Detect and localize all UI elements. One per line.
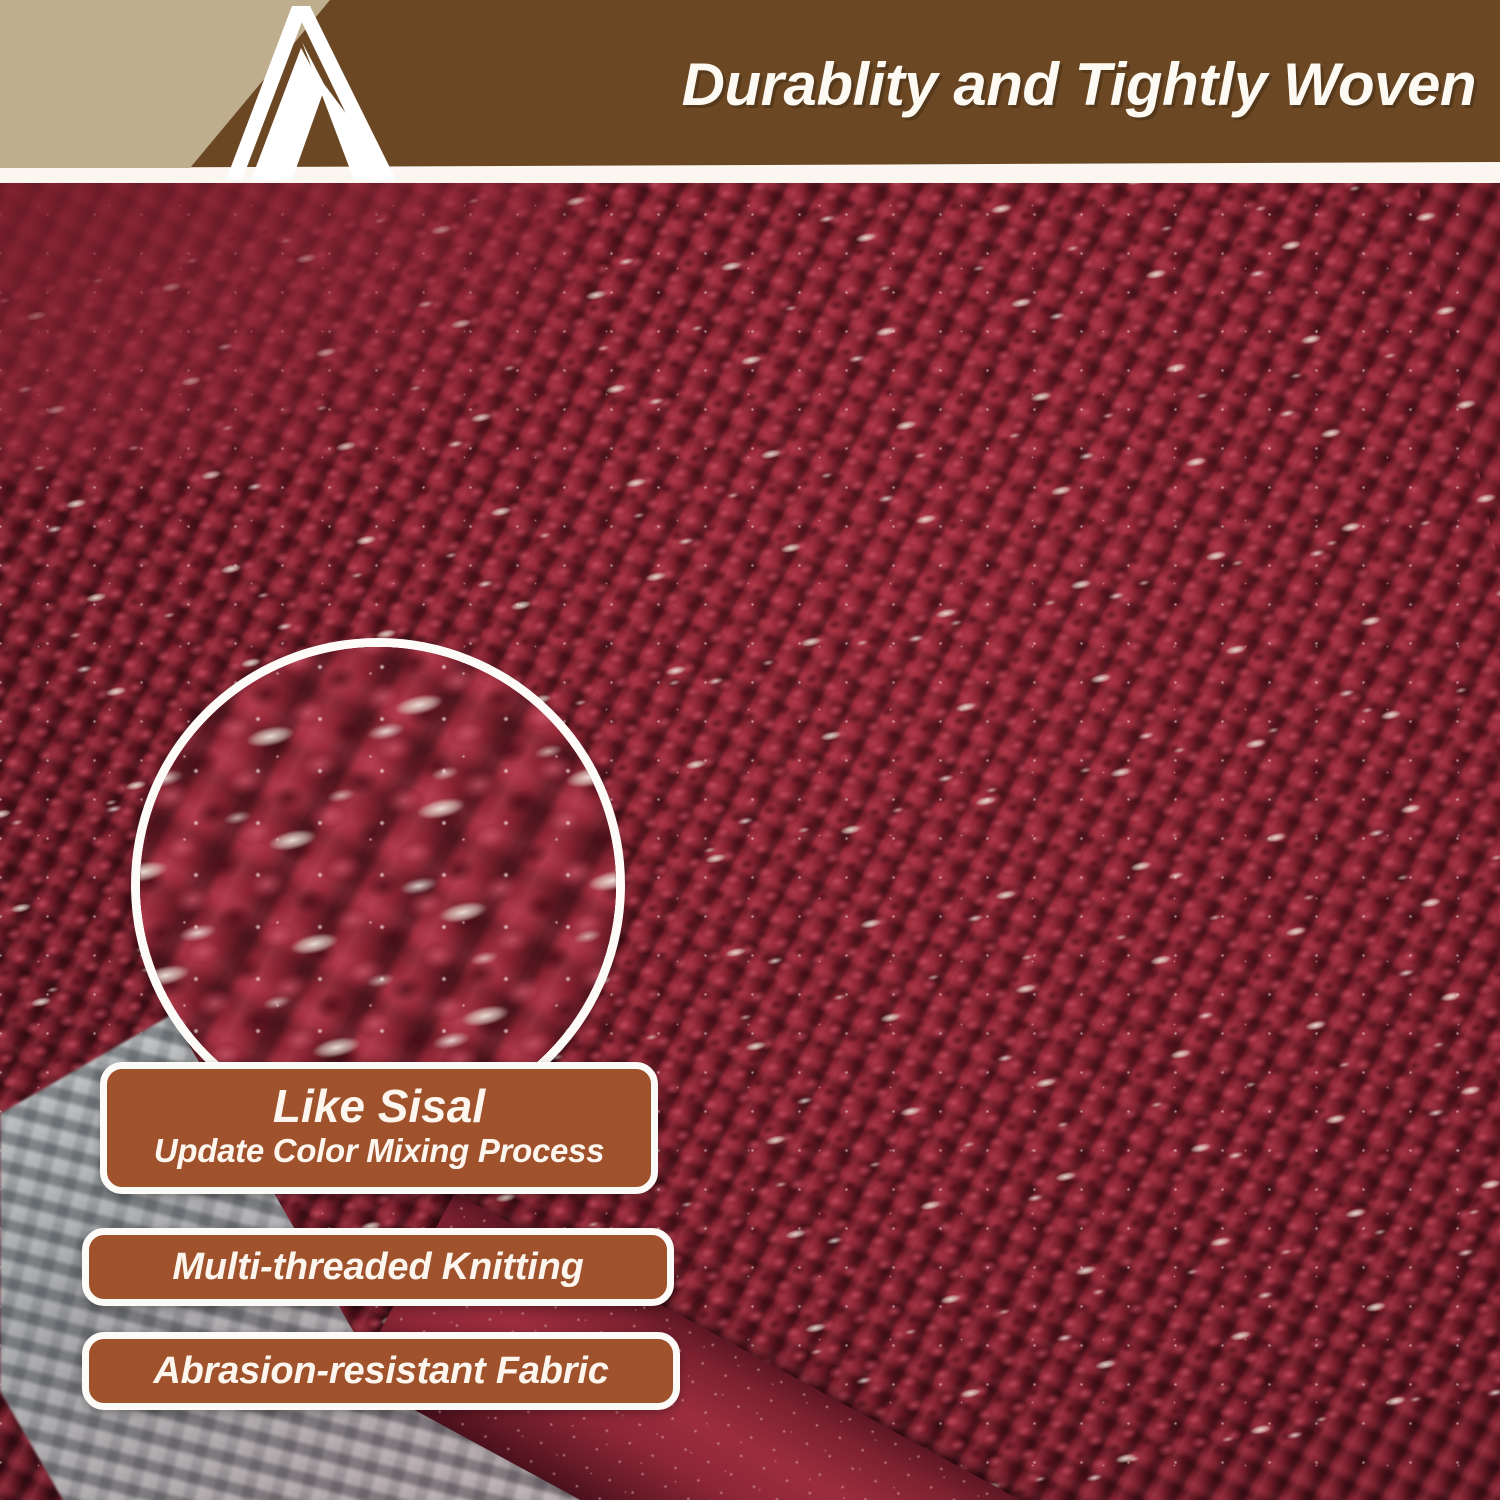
header-banner: Durablity and Tightly Woven <box>0 0 1500 183</box>
zoom-detail-texture <box>131 638 625 1132</box>
callout-like-sisal-title: Like Sisal <box>273 1083 485 1131</box>
product-feature-image: Like Sisal Update Color Mixing Process M… <box>0 0 1500 1500</box>
callout-abrasion-resistant-fabric: Abrasion-resistant Fabric <box>82 1332 680 1410</box>
brand-mountain-m-logo <box>96 0 396 180</box>
banner-title: Durablity and Tightly Woven <box>430 0 1490 168</box>
carpet-defocus-highlight <box>0 183 580 473</box>
zoom-detail-sparkle <box>131 638 625 1132</box>
zoom-detail-circle <box>131 638 625 1132</box>
callout-multi-threaded-knitting: Multi-threaded Knitting <box>82 1228 674 1306</box>
callout-like-sisal-subtitle: Update Color Mixing Process <box>154 1133 604 1169</box>
callout-like-sisal: Like Sisal Update Color Mixing Process <box>100 1062 658 1194</box>
